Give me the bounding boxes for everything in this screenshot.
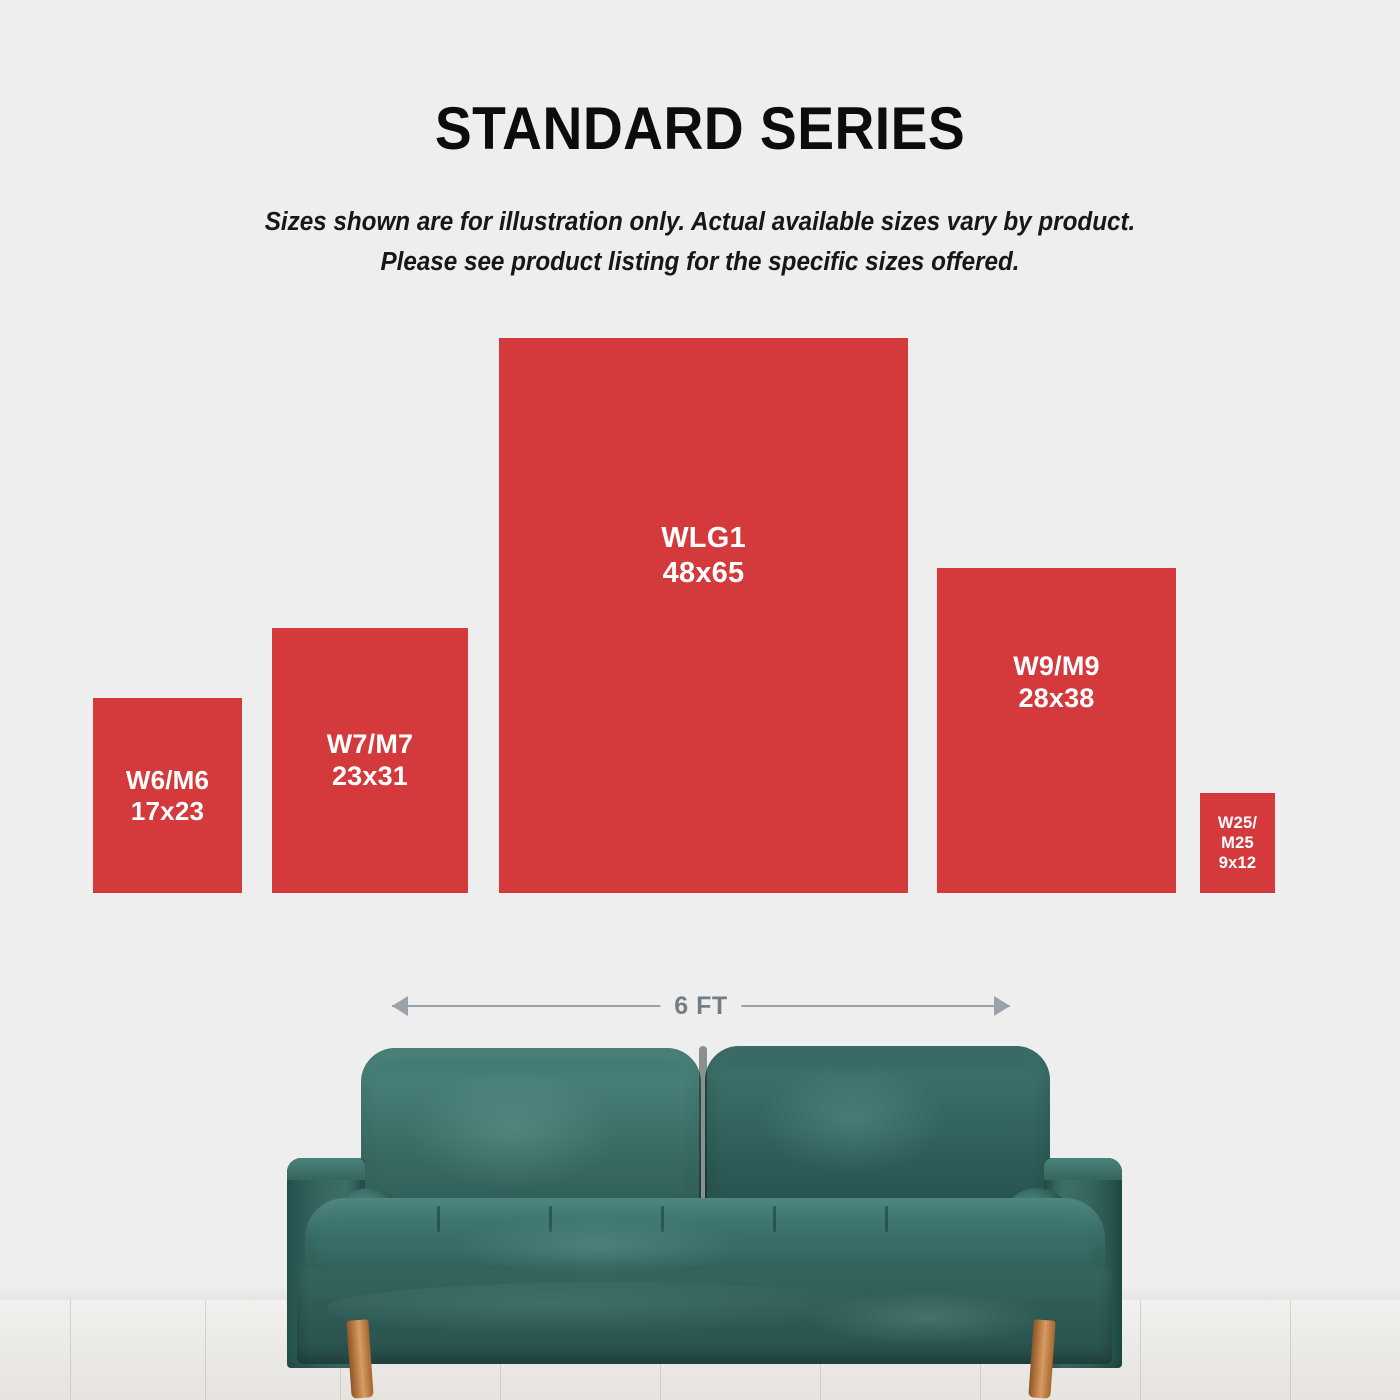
- sofa-arm-right-top: [1044, 1158, 1122, 1180]
- sofa-leg-front-right: [1028, 1319, 1055, 1398]
- size-swatch-label: W6/M6 17x23: [126, 765, 209, 826]
- size-swatch-w6-m6[interactable]: W6/M6 17x23: [93, 698, 242, 893]
- size-swatch-label: W7/M7 23x31: [327, 729, 414, 793]
- subtitle-line-2: Please see product listing for the speci…: [35, 242, 1365, 282]
- scale-measurement: 6 FT: [392, 988, 1010, 1024]
- size-swatch-w9-m9[interactable]: W9/M9 28x38: [937, 568, 1176, 893]
- subtitle: Sizes shown are for illustration only. A…: [35, 202, 1365, 282]
- size-swatch-label: W9/M9 28x38: [1013, 651, 1100, 715]
- size-swatch-label: W25/ M25 9x12: [1218, 813, 1257, 873]
- arrow-left-icon: [392, 996, 408, 1016]
- size-swatch-w7-m7[interactable]: W7/M7 23x31: [272, 628, 468, 893]
- size-swatch-wlg1[interactable]: WLG1 48x65: [499, 338, 908, 893]
- sofa-base-sheen: [327, 1282, 887, 1334]
- arrow-right-icon: [994, 996, 1010, 1016]
- size-swatch-w25-m25[interactable]: W25/ M25 9x12: [1200, 793, 1275, 893]
- sofa-image: [287, 1030, 1120, 1400]
- subtitle-line-1: Sizes shown are for illustration only. A…: [35, 202, 1365, 242]
- page-title: STANDARD SERIES: [56, 96, 1344, 162]
- measure-label: 6 FT: [660, 988, 741, 1024]
- sofa-arm-left-top: [287, 1158, 365, 1180]
- size-comparison-graphic: STANDARD SERIES Sizes shown are for illu…: [0, 0, 1400, 1400]
- size-swatch-label: WLG1 48x65: [661, 521, 746, 589]
